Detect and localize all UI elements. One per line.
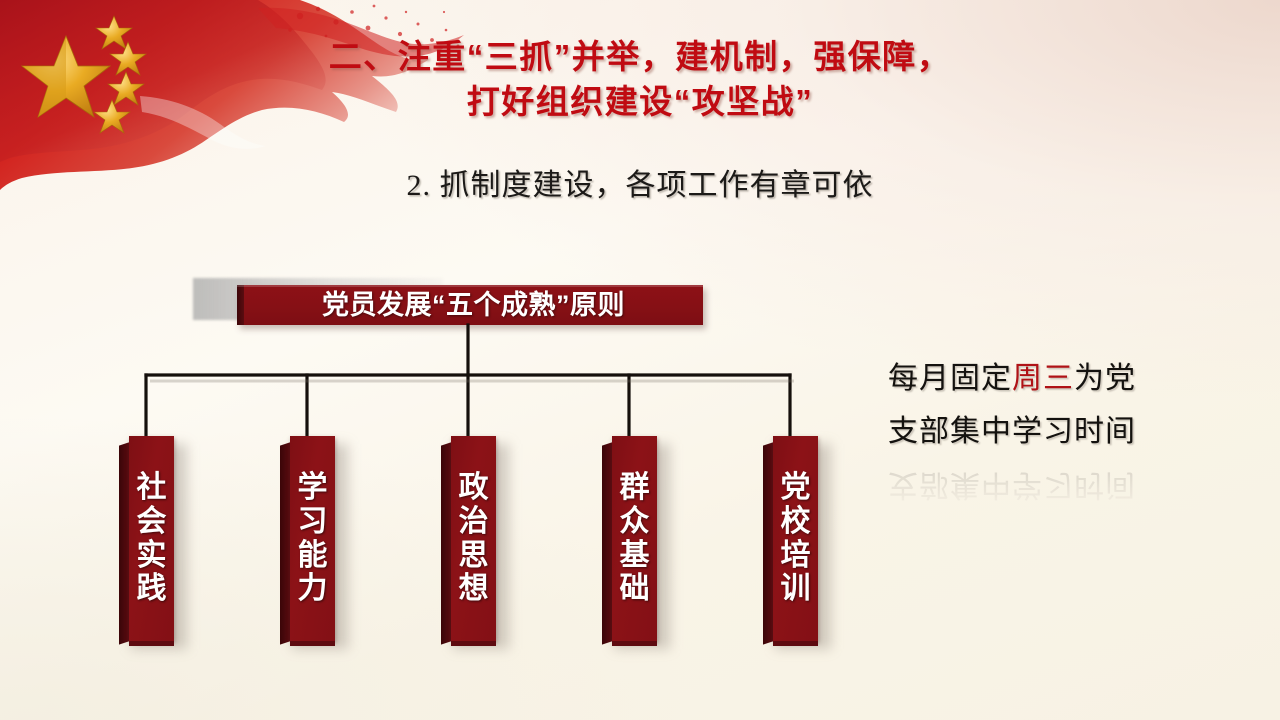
org-node-4[interactable]: 群 众 基 础: [602, 436, 657, 641]
org-node-3[interactable]: 政 治 思 想: [441, 436, 496, 641]
org-node-2[interactable]: 学 习 能 力: [280, 436, 335, 641]
side-note-highlight: 周三: [1012, 362, 1074, 395]
node-char: 基: [620, 539, 650, 573]
node-char: 培: [781, 539, 811, 573]
node-char: 实: [137, 539, 167, 573]
side-note-line-1: 每月固定周三为党: [888, 352, 1188, 405]
side-note-line-2: 支部集中学习时间: [888, 405, 1188, 458]
node-bottom-face: [773, 641, 818, 646]
node-char: 学: [298, 471, 328, 505]
node-char: 习: [298, 505, 328, 539]
org-node-1[interactable]: 社 会 实 践: [119, 436, 174, 641]
slide-canvas: 二、注重“三抓”并举，建机制，强保障， 打好组织建设“攻坚战” 2. 抓制度建设…: [0, 0, 1280, 720]
org-node-5-label: 党 校 培 训: [773, 436, 818, 641]
node-char: 社: [137, 471, 167, 505]
node-char: 政: [459, 471, 489, 505]
node-char: 践: [137, 572, 167, 606]
node-char: 思: [459, 539, 489, 573]
org-node-5[interactable]: 党 校 培 训: [763, 436, 818, 641]
node-char: 党: [781, 471, 811, 505]
node-char: 力: [298, 572, 328, 606]
node-char: 群: [620, 471, 650, 505]
node-char: 想: [459, 572, 489, 606]
side-note: 每月固定周三为党 支部集中学习时间: [888, 352, 1188, 458]
node-char: 训: [781, 572, 811, 606]
node-char: 础: [620, 572, 650, 606]
node-char: 能: [298, 539, 328, 573]
node-bottom-face: [451, 641, 496, 646]
node-char: 治: [459, 505, 489, 539]
org-chart: 党员发展“五个成熟”原则 社 会 实: [0, 0, 900, 720]
org-node-2-label: 学 习 能 力: [290, 436, 335, 641]
side-note-reflection: 支部集中学习时间: [888, 458, 1188, 511]
org-node-1-label: 社 会 实 践: [129, 436, 174, 641]
org-node-4-label: 群 众 基 础: [612, 436, 657, 641]
node-bottom-face: [612, 641, 657, 646]
node-char: 校: [781, 505, 811, 539]
org-node-3-label: 政 治 思 想: [451, 436, 496, 641]
side-note-prefix: 每月固定: [888, 362, 1012, 395]
node-char: 会: [137, 505, 167, 539]
node-bottom-face: [129, 641, 174, 646]
side-note-reflection-line: 支部集中学习时间: [888, 458, 1188, 511]
side-note-suffix: 为党: [1074, 362, 1136, 395]
node-char: 众: [620, 505, 650, 539]
node-bottom-face: [290, 641, 335, 646]
